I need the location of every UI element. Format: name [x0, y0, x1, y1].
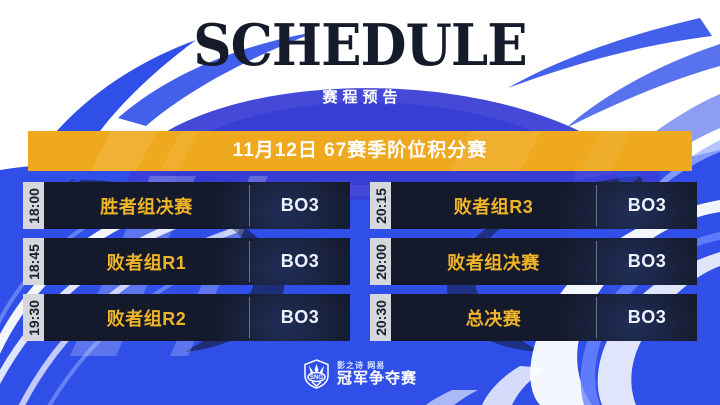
footer-logo: SNG 影之诗 网易 冠军争夺赛	[0, 352, 720, 396]
match-format: BO3	[597, 294, 697, 341]
event-banner: 11月12日 67赛季阶位积分赛	[28, 131, 692, 171]
schedule-row[interactable]: 20:15 败者组R3 BO3	[370, 182, 697, 229]
poster-header: SCHEDULE 赛程预告	[0, 0, 720, 131]
match-time: 20:30	[373, 300, 389, 336]
match-name: 败者组决赛	[391, 238, 596, 285]
match-format: BO3	[250, 182, 350, 229]
logo-main-text: 冠军争夺赛	[337, 371, 417, 387]
match-format: BO3	[250, 294, 350, 341]
page-title: SCHEDULE	[25, 15, 695, 77]
match-format: BO3	[250, 238, 350, 285]
match-time-chip: 20:15	[370, 182, 391, 229]
logo-top-text: 影之诗 网易	[337, 361, 417, 370]
match-name: 胜者组决赛	[44, 182, 249, 229]
schedule-row[interactable]: 18:00 胜者组决赛 BO3	[23, 182, 350, 229]
schedule-row[interactable]: 18:45 败者组R1 BO3	[23, 238, 350, 285]
match-card[interactable]: 败者组决赛 BO3	[391, 238, 697, 285]
match-card[interactable]: 败者组R1 BO3	[44, 238, 350, 285]
match-card[interactable]: 败者组R2 BO3	[44, 294, 350, 341]
page-subtitle: 赛程预告	[0, 88, 720, 108]
match-time-chip: 19:30	[23, 294, 44, 341]
match-format: BO3	[597, 182, 697, 229]
match-time: 19:30	[26, 300, 42, 336]
match-time-chip: 20:30	[370, 294, 391, 341]
event-banner-text: 11月12日 67赛季阶位积分赛	[28, 131, 692, 171]
match-format: BO3	[597, 238, 697, 285]
match-time: 18:00	[26, 188, 42, 224]
match-card[interactable]: 胜者组决赛 BO3	[44, 182, 350, 229]
match-time: 18:45	[26, 244, 42, 280]
match-time-chip: 20:00	[370, 238, 391, 285]
logo-text-block: 影之诗 网易 冠军争夺赛	[337, 361, 417, 387]
match-name: 败者组R1	[44, 238, 249, 285]
match-card[interactable]: 总决赛 BO3	[391, 294, 697, 341]
match-name: 败者组R3	[391, 182, 596, 229]
svg-text:SNG: SNG	[310, 375, 323, 381]
match-name: 总决赛	[391, 294, 596, 341]
schedule-row[interactable]: 20:30 总决赛 BO3	[370, 294, 697, 341]
match-name: 败者组R2	[44, 294, 249, 341]
schedule-column-left: 18:00 胜者组决赛 BO3 18:45 败者组R1 BO3	[23, 182, 350, 350]
schedule-poster: SCHEDULE 赛程预告 11月12日 67赛季阶位积分赛 18:00 胜者组…	[0, 0, 720, 405]
sng-shield-icon: SNG	[303, 359, 330, 389]
schedule-grid: 18:00 胜者组决赛 BO3 18:45 败者组R1 BO3	[0, 182, 720, 350]
schedule-row[interactable]: 20:00 败者组决赛 BO3	[370, 238, 697, 285]
match-card[interactable]: 败者组R3 BO3	[391, 182, 697, 229]
schedule-row[interactable]: 19:30 败者组R2 BO3	[23, 294, 350, 341]
match-time-chip: 18:00	[23, 182, 44, 229]
match-time-chip: 18:45	[23, 238, 44, 285]
schedule-column-right: 20:15 败者组R3 BO3 20:00 败者组决赛 BO3	[370, 182, 697, 350]
match-time: 20:00	[373, 244, 389, 280]
match-time: 20:15	[373, 188, 389, 224]
